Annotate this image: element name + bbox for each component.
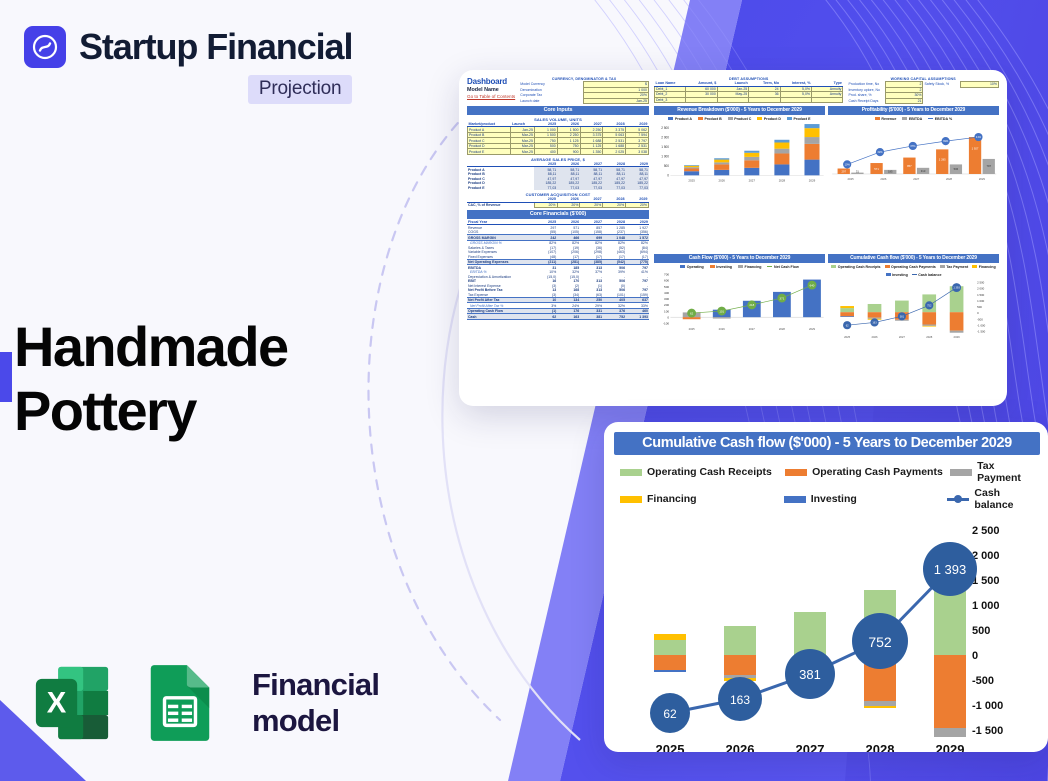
cumulative-cash-flow-card[interactable]: Cumulative Cash flow ($'000) - 5 Years t…: [604, 422, 1048, 752]
legend-cash-balance: Cash balance: [912, 273, 942, 277]
svg-text:31: 31: [856, 169, 860, 173]
point-label-2025: 62: [663, 707, 677, 721]
svg-text:1 393: 1 393: [953, 285, 960, 289]
headline-line-2: Pottery: [14, 379, 288, 443]
svg-text:2026: 2026: [880, 177, 887, 181]
legend-item-operating-cash-receipts[interactable]: Operating Cash Receipts: [620, 460, 785, 484]
svg-text:1 000: 1 000: [977, 299, 985, 303]
svg-text:163: 163: [872, 320, 877, 324]
dashboard-screenshot-card[interactable]: Dashboard Model Name Go to Table of Cont…: [459, 70, 1007, 406]
legend-swatch: [950, 469, 972, 476]
core-financials-table: Fiscal Year 2025 2026 2027 2028 2029 Rev…: [467, 220, 649, 320]
svg-text:2027: 2027: [749, 327, 756, 331]
xtick-2026: 2026: [726, 742, 755, 752]
svg-text:700: 700: [664, 272, 669, 276]
svg-text:371: 371: [780, 296, 785, 300]
legend-net-cash-flow: Net Cash Flow: [767, 265, 798, 269]
svg-text:-1 500: -1 500: [977, 329, 986, 333]
xtick-2029: 2029: [936, 742, 965, 752]
legend-ebitda-pct: EBITDA %: [928, 117, 952, 121]
svg-text:1 927: 1 927: [972, 146, 979, 150]
svg-text:500: 500: [664, 164, 669, 168]
ytick-0: 0: [972, 650, 978, 662]
svg-text:2026: 2026: [719, 327, 726, 331]
legend-swatch: [620, 496, 642, 503]
legend-item-tax-payment[interactable]: Tax Payment: [950, 460, 1036, 484]
revenue-breakdown-chart[interactable]: Revenue Breakdown ($'000) - 5 Years to D…: [654, 106, 825, 251]
bar-group-2025: [654, 634, 686, 672]
brand-subtitle: Projection: [248, 75, 353, 104]
ytick-neg1000: -1 000: [972, 700, 1003, 712]
svg-text:100: 100: [664, 309, 669, 313]
table-row: Debt_3: [655, 97, 843, 103]
svg-text:2027: 2027: [899, 335, 906, 339]
profitability-chart[interactable]: Profitability ($'000) - 5 Years to Decem…: [828, 106, 999, 251]
sales-volume-table: Market/product Launch 2025 2026 2027 202…: [467, 122, 649, 155]
legend-swatch: [785, 469, 807, 476]
point-label-2028: 752: [868, 634, 892, 650]
ytick-2000: 2 000: [972, 550, 1000, 562]
legend-swatch: [620, 469, 642, 476]
chart-title: Cumulative Cash flow ($'000) - 5 Years t…: [614, 432, 1040, 455]
brand-title: Startup Financial: [79, 29, 352, 65]
average-price-table: 2025 2026 2027 2028 2029 Product A58,715…: [467, 162, 649, 190]
table-row: CAC, % of Revenue20%20%20%20%20%: [467, 202, 649, 208]
svg-text:2029: 2029: [809, 178, 816, 182]
core-inputs-header: Core Inputs: [467, 106, 649, 115]
ytick-1000: 1 000: [972, 600, 1000, 612]
financial-model-label: Financial model: [252, 667, 470, 739]
svg-text:2 000: 2 000: [661, 135, 669, 139]
brand-lockup: Startup Financial Projection: [24, 26, 352, 104]
svg-text:797: 797: [986, 164, 991, 168]
svg-text:500: 500: [977, 305, 982, 309]
working-capital-table: Production time, No2Safety Stock, %10% I…: [847, 81, 999, 104]
legend-product-a: Product A: [668, 117, 692, 121]
dashboard-heading: Dashboard: [467, 77, 515, 86]
svg-text:2027: 2027: [749, 178, 756, 182]
svg-text:300: 300: [664, 297, 669, 301]
profitability-plot: 297571 8571 2851 927 31185 313506797 10%: [828, 122, 999, 185]
cumulative-cash-flow-mini-plot: 2 5002 0001 500 1 0005000 -500-1 000-1 5…: [828, 278, 999, 341]
legend-operating: Operating: [680, 265, 703, 269]
legend-product-b: Product B: [698, 117, 722, 121]
legend-tax-payment: Tax Payment: [940, 265, 968, 269]
debt-assumptions-table: Loan Name Amount, $ Launch Term, Mo Inte…: [654, 81, 843, 103]
svg-text:37%: 37%: [910, 144, 916, 148]
legend-product-d: Product D: [757, 117, 781, 121]
svg-text:2 500: 2 500: [977, 280, 985, 284]
svg-text:1 000: 1 000: [661, 154, 669, 158]
svg-text:101: 101: [719, 309, 724, 313]
cash-flow-chart[interactable]: Cash Flow ($'000) - 5 Years to December …: [654, 254, 825, 399]
table-row: Cash621633817521 393: [467, 314, 649, 320]
legend-financing: Financing: [972, 265, 995, 269]
point-label-2026: 163: [730, 693, 750, 707]
svg-text:2029: 2029: [954, 335, 961, 339]
revenue-breakdown-plot: 2 5002 000 1 5001 000 5000: [654, 122, 825, 185]
legend-operating-cash-payments: Operating Cash Payments: [885, 265, 936, 269]
page-title: Handmade Pottery: [14, 315, 288, 444]
svg-text:1 500: 1 500: [977, 293, 985, 297]
svg-text:297: 297: [841, 169, 846, 173]
svg-text:10%: 10%: [845, 162, 851, 166]
ytick-neg500: -500: [972, 675, 994, 687]
point-label-2027: 381: [799, 667, 821, 682]
legend-swatch: [784, 496, 806, 503]
svg-text:-100: -100: [663, 321, 669, 325]
xtick-2028: 2028: [866, 742, 895, 752]
svg-text:0: 0: [977, 311, 979, 315]
point-label-2029: 1 393: [934, 562, 967, 577]
table-of-contents-link[interactable]: Go to Table of Contents: [467, 94, 515, 99]
legend-revenue: Revenue: [875, 117, 896, 121]
xtick-2027: 2027: [796, 742, 825, 752]
svg-text:1 500: 1 500: [661, 145, 669, 149]
dashboard-charts-pane: DEBT ASSUMPTIONS Loan Name Amount, $ Lau…: [654, 77, 999, 399]
svg-text:752: 752: [927, 303, 932, 307]
core-financials-header: Core Financials ($'000): [467, 210, 649, 219]
svg-text:600: 600: [664, 278, 669, 282]
legend-item-cash-balance[interactable]: Cash balance: [947, 487, 1036, 511]
svg-text:500: 500: [664, 285, 669, 289]
svg-text:2026: 2026: [719, 178, 726, 182]
svg-text:381: 381: [900, 314, 905, 318]
svg-text:506: 506: [954, 167, 959, 171]
svg-text:2027: 2027: [913, 177, 920, 181]
svg-text:2025: 2025: [689, 327, 696, 331]
legend-product-e: Product E: [787, 117, 810, 121]
svg-text:571: 571: [874, 167, 879, 171]
chart-plot-area: 2 500 2 000 1 500 1 000 500 0 -500 -1 00…: [614, 516, 1040, 752]
svg-text:2025: 2025: [688, 178, 695, 182]
svg-text:2025: 2025: [848, 177, 855, 181]
model-name-label: Model Name: [467, 87, 515, 93]
table-row: Product EMar-254009001 3502 0253 038: [468, 149, 649, 155]
ytick-neg1500: -1 500: [972, 725, 1003, 737]
headline-line-1: Handmade: [14, 315, 288, 379]
svg-text:41%: 41%: [976, 135, 982, 139]
svg-text:-1 000: -1 000: [977, 323, 986, 327]
bar-group-2026: [724, 626, 756, 681]
ytick-2500: 2 500: [972, 525, 1000, 537]
svg-text:640: 640: [810, 283, 815, 287]
svg-text:2029: 2029: [809, 327, 816, 331]
svg-text:200: 200: [664, 303, 669, 307]
svg-text:2 000: 2 000: [977, 286, 985, 290]
swirl-logo-icon: [24, 26, 66, 68]
cash-flow-plot: 700600500 400300200 1000-100: [654, 270, 825, 333]
cumulative-cash-flow-mini-chart[interactable]: Cumulative Cash flow ($'000) - 5 Years t…: [828, 254, 999, 399]
format-badges: X Financial model: [28, 660, 470, 746]
dashboard-inputs-pane: Dashboard Model Name Go to Table of Cont…: [467, 77, 649, 399]
svg-text:218: 218: [749, 303, 754, 307]
legend-item-operating-cash-payments[interactable]: Operating Cash Payments: [785, 460, 950, 484]
chart-legend: Operating Cash Receipts Operating Cash P…: [614, 455, 1040, 516]
svg-text:2028: 2028: [779, 178, 786, 182]
cac-table: 2025 2026 2027 2028 2029 CAC, % of Reven…: [467, 197, 649, 208]
legend-financing: Financing: [738, 265, 761, 269]
legend-investing: Investing: [710, 265, 732, 269]
svg-text:-500: -500: [977, 317, 983, 321]
ytick-1500: 1 500: [972, 575, 1000, 587]
svg-text:39%: 39%: [943, 139, 949, 143]
svg-text:313: 313: [921, 169, 926, 173]
legend-product-c: Product C: [728, 117, 752, 121]
svg-text:2028: 2028: [779, 327, 786, 331]
svg-text:857: 857: [907, 164, 912, 168]
legend-item-investing[interactable]: Investing: [784, 487, 948, 511]
svg-text:2028: 2028: [946, 177, 953, 181]
svg-text:1 285: 1 285: [939, 157, 946, 161]
svg-text:32%: 32%: [877, 150, 883, 154]
svg-text:X: X: [47, 687, 67, 719]
svg-text:2029: 2029: [979, 177, 986, 181]
table-row: Product E77,0377,0377,0377,0377,03: [467, 185, 649, 190]
svg-text:400: 400: [664, 291, 669, 295]
ytick-500: 500: [972, 625, 990, 637]
svg-text:2 500: 2 500: [661, 126, 669, 130]
google-sheets-icon: [136, 660, 224, 746]
svg-text:2028: 2028: [926, 335, 933, 339]
legend-line-marker: [947, 498, 969, 501]
legend-operating-cash-receipts: Operating Cash Receipts: [831, 265, 880, 269]
legend-item-financing[interactable]: Financing: [620, 487, 784, 511]
legend-investing: Investing: [886, 273, 908, 277]
currency-table: Model Currency$ Denomination1 000 Corpor…: [519, 81, 649, 104]
svg-text:185: 185: [888, 169, 893, 173]
xtick-2025: 2025: [656, 742, 685, 752]
legend-ebitda: EBITDA: [902, 117, 922, 121]
microsoft-excel-icon: X: [28, 660, 116, 746]
svg-text:0: 0: [667, 173, 669, 177]
svg-text:62: 62: [690, 311, 694, 315]
svg-text:0: 0: [667, 315, 669, 319]
svg-text:2025: 2025: [844, 335, 851, 339]
svg-text:2026: 2026: [871, 335, 878, 339]
